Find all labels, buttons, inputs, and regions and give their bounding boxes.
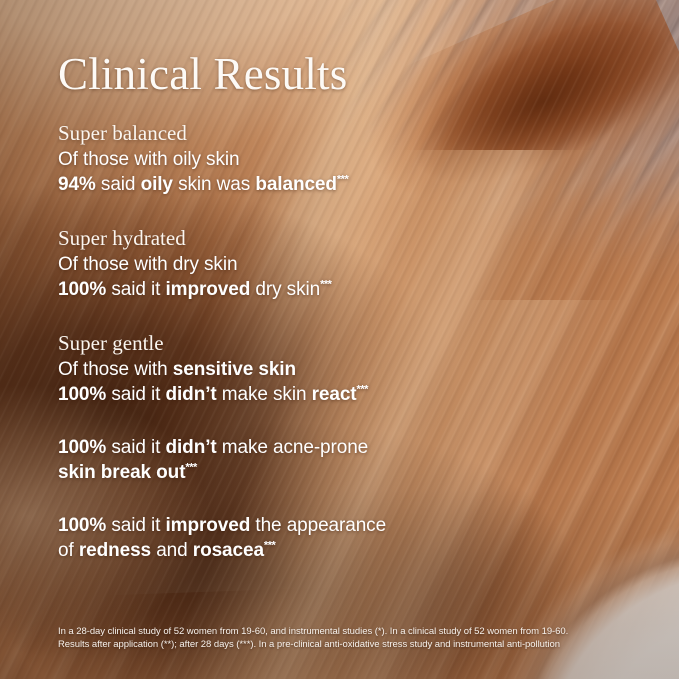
result-stat: 100%	[58, 384, 106, 405]
result-heading: Super gentle	[58, 330, 518, 356]
result-block-super-hydrated: Super hydrated Of those with dry skin 10…	[58, 225, 518, 302]
result-emphasis-1: oily	[141, 174, 173, 195]
footnote-marker: ***	[320, 279, 331, 291]
result-statline: 100% said it didn’t make acne-prone	[58, 435, 518, 460]
result-text-2: make skin	[217, 384, 312, 405]
result-heading: Super hydrated	[58, 225, 518, 251]
result-statline-continued: of redness and rosacea***	[58, 538, 518, 563]
result-subline-text: Of those with oily skin	[58, 149, 239, 170]
result-block-acne-prone: 100% said it didn’t make acne-prone skin…	[58, 435, 518, 485]
clinical-results-graphic: Clinical Results Super balanced Of those…	[0, 0, 679, 679]
result-statline: 100% said it didn’t make skin react***	[58, 382, 518, 407]
result-subline-prefix: Of those with	[58, 359, 173, 380]
result-statline: 94% said oily skin was balanced***	[58, 172, 518, 197]
result-statline: 100% said it improved the appearance	[58, 513, 518, 538]
result-statline-continued: skin break out***	[58, 460, 518, 485]
results-list: Super balanced Of those with oily skin 9…	[58, 120, 518, 563]
result-text-1: said it	[106, 384, 165, 405]
footnote-marker: ***	[357, 384, 368, 396]
result-block-super-gentle: Super gentle Of those with sensitive ski…	[58, 330, 518, 407]
result-statline: 100% said it improved dry skin***	[58, 277, 518, 302]
result-stat: 100%	[58, 515, 106, 536]
footnote-marker: ***	[264, 540, 275, 552]
result-stat: 100%	[58, 279, 106, 300]
result-text-3: of	[58, 540, 79, 561]
result-text-4: and	[151, 540, 193, 561]
result-emphasis-1: improved	[166, 279, 251, 300]
result-heading: Super balanced	[58, 120, 518, 146]
content-area: Clinical Results Super balanced Of those…	[58, 0, 679, 679]
result-subline: Of those with sensitive skin	[58, 357, 518, 382]
result-emphasis-2: redness	[79, 540, 151, 561]
result-emphasis-1: didn’t	[166, 384, 217, 405]
page-title: Clinical Results	[58, 52, 347, 97]
result-text-2: make acne-prone	[217, 437, 369, 458]
result-text-1: said it	[106, 515, 165, 536]
result-emphasis-3: rosacea	[193, 540, 264, 561]
footnote-marker: ***	[337, 174, 348, 186]
result-stat: 100%	[58, 437, 106, 458]
result-emphasis-1: improved	[166, 515, 251, 536]
result-text-1: said it	[106, 279, 165, 300]
result-text-2: the appearance	[250, 515, 386, 536]
result-block-super-balanced: Super balanced Of those with oily skin 9…	[58, 120, 518, 197]
result-text-1: said	[96, 174, 141, 195]
footnote-line-2: Results after application (**); after 28…	[58, 639, 636, 652]
result-text-2: dry skin	[250, 279, 320, 300]
result-text-1: said it	[106, 437, 165, 458]
result-emphasis-1: didn’t	[166, 437, 217, 458]
result-stat: 94%	[58, 174, 96, 195]
result-block-redness-rosacea: 100% said it improved the appearance of …	[58, 513, 518, 563]
result-subline-text: Of those with dry skin	[58, 254, 237, 275]
footnote-disclaimer: In a 28-day clinical study of 52 women f…	[58, 626, 636, 651]
result-emphasis-2: react	[312, 384, 357, 405]
result-subline: Of those with oily skin	[58, 147, 518, 172]
footnote-line-1: In a 28-day clinical study of 52 women f…	[58, 626, 636, 639]
result-emphasis-2: balanced	[255, 174, 337, 195]
result-subline: Of those with dry skin	[58, 252, 518, 277]
result-subline-emphasis: sensitive skin	[173, 359, 296, 380]
result-text-2: skin was	[173, 174, 255, 195]
footnote-marker: ***	[185, 462, 196, 474]
result-emphasis-2: skin break out	[58, 462, 185, 483]
